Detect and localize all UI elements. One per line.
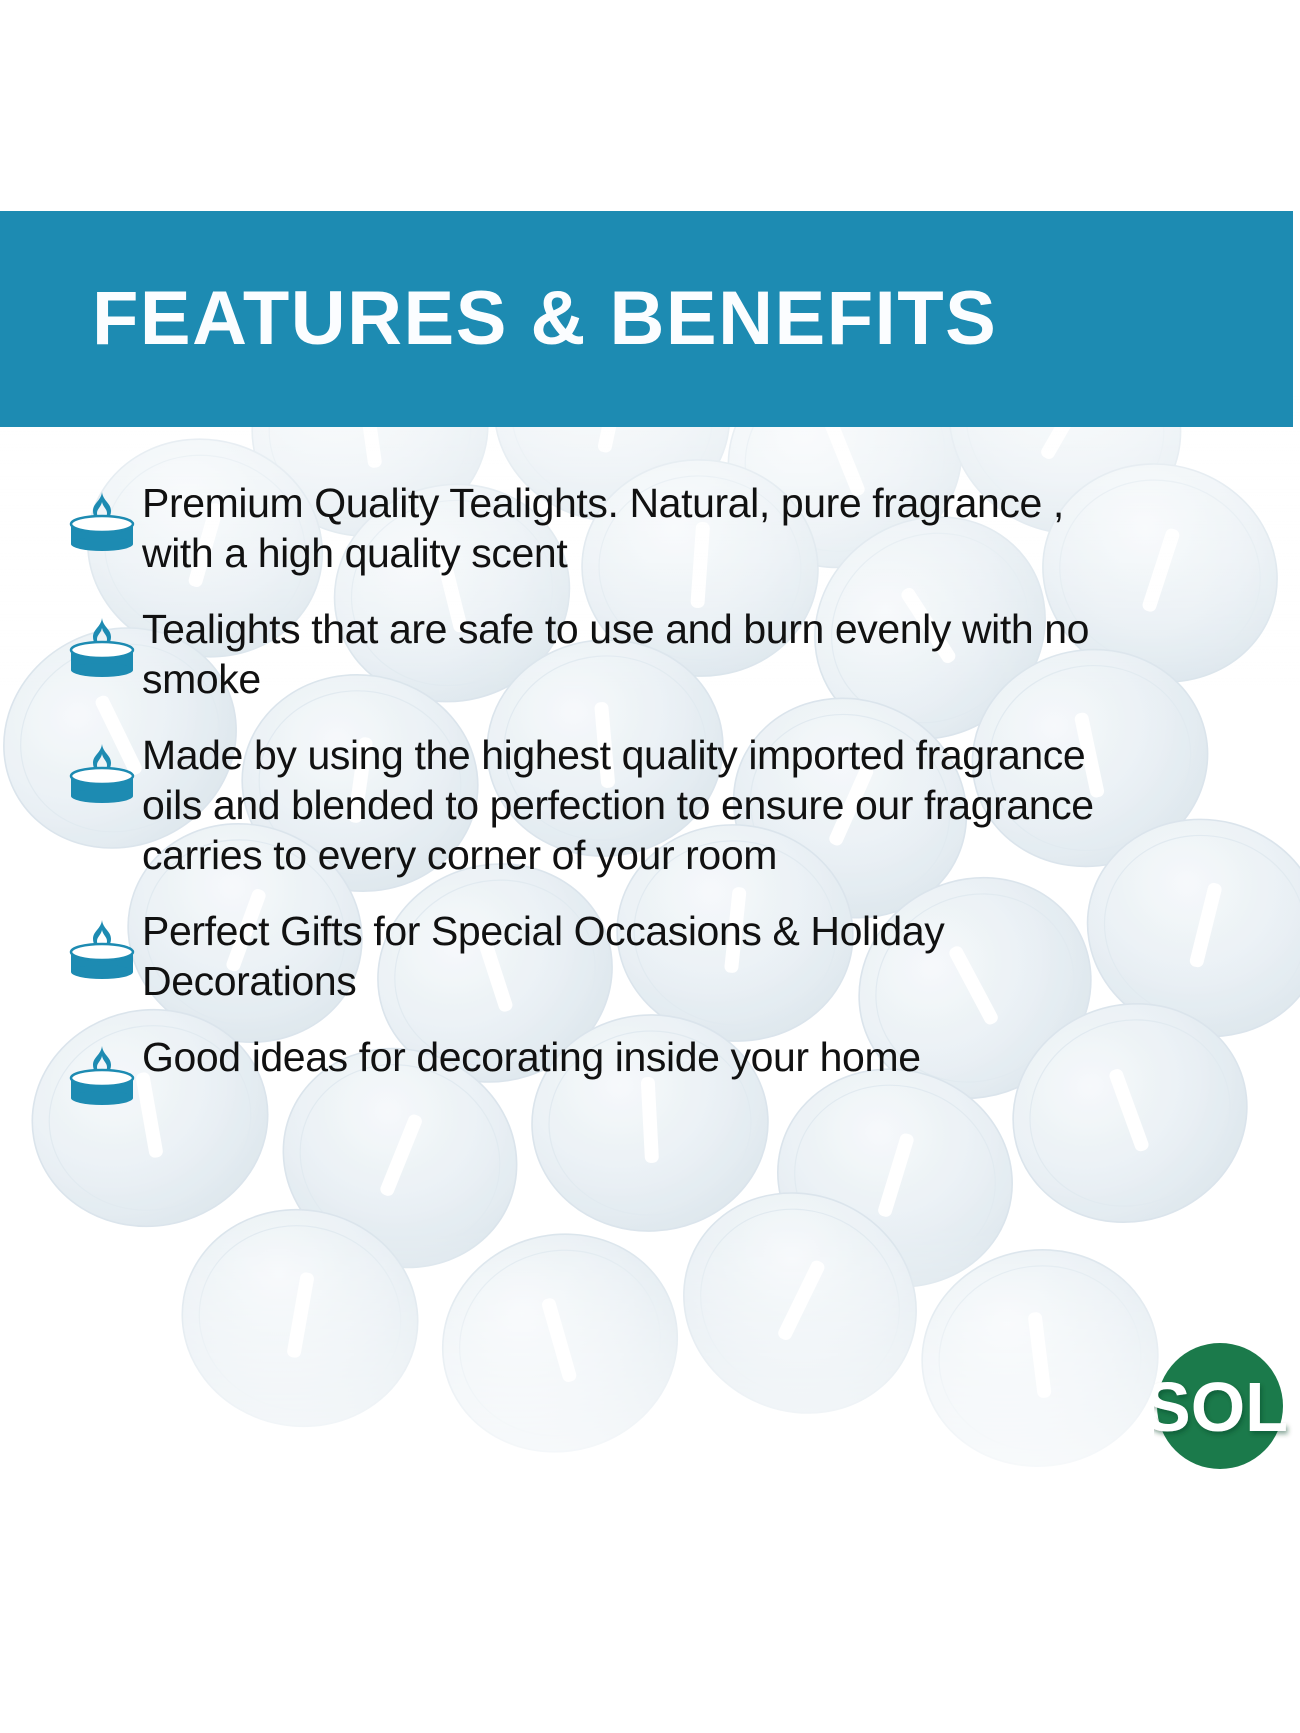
feature-text: Perfect Gifts for Special Occasions & Ho… xyxy=(142,906,1152,1006)
sol-logo-text: SOL xyxy=(1154,1368,1288,1446)
list-item: Premium Quality Tealights. Natural, pure… xyxy=(0,478,1300,578)
list-item: Perfect Gifts for Special Occasions & Ho… xyxy=(0,906,1300,1006)
list-item: Made by using the highest quality import… xyxy=(0,730,1300,880)
tealight-candle-icon xyxy=(62,490,142,552)
sol-brand-logo: SOL xyxy=(1154,1333,1300,1479)
list-item: Tealights that are safe to use and burn … xyxy=(0,604,1300,704)
tealight-candle-icon xyxy=(62,918,142,980)
tealight-candle-icon xyxy=(62,616,142,678)
list-item: Good ideas for decorating inside your ho… xyxy=(0,1032,1300,1106)
feature-text: Premium Quality Tealights. Natural, pure… xyxy=(142,478,1152,578)
tealight-candle-icon xyxy=(62,1044,142,1106)
page-title: FEATURES & BENEFITS xyxy=(0,281,997,357)
feature-text: Made by using the highest quality import… xyxy=(142,730,1152,880)
feature-text: Tealights that are safe to use and burn … xyxy=(142,604,1152,704)
tealight-candle-icon xyxy=(62,742,142,804)
features-list: Premium Quality Tealights. Natural, pure… xyxy=(0,478,1300,1132)
feature-text: Good ideas for decorating inside your ho… xyxy=(142,1032,1152,1082)
marketing-infographic-page: FEATURES & BENEFITS Premium Quality Teal… xyxy=(0,0,1300,1733)
header-band: FEATURES & BENEFITS xyxy=(0,211,1293,427)
